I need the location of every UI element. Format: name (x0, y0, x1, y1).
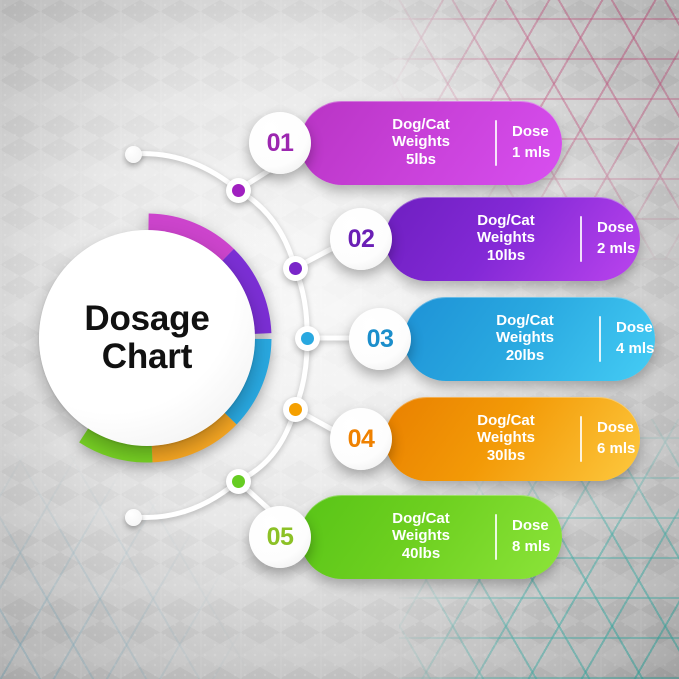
dose-column-01: Dose 1 mls (512, 123, 584, 162)
dosage-pill-02[interactable]: Dog/Cat Weights 10lbs Dose 2 mls (385, 197, 640, 281)
hub-disc: Dosage Chart (39, 230, 255, 446)
step-badge-02[interactable]: 02 (330, 208, 392, 270)
step-number-04: 04 (348, 425, 375, 454)
dosage-row-04[interactable]: Dog/Cat Weights 30lbs Dose 6 mls (385, 397, 640, 481)
dosage-row-01[interactable]: Dog/Cat Weights 5lbs Dose 1 mls (300, 101, 562, 185)
dosage-row-02[interactable]: Dog/Cat Weights 10lbs Dose 2 mls (385, 197, 640, 281)
dosage-pill-01[interactable]: Dog/Cat Weights 5lbs Dose 1 mls (300, 101, 562, 185)
weight-value-05: 40lbs (362, 546, 480, 563)
dose-label-04: Dose (597, 419, 669, 437)
column-divider-02 (580, 216, 582, 262)
weights-label-05: Dog/Cat (362, 511, 480, 528)
dose-value-05: 8 mls (512, 538, 584, 556)
endpoint-dot-bottom (125, 509, 142, 526)
node-dot-01[interactable] (226, 178, 251, 203)
weight-value-01: 5lbs (362, 152, 480, 169)
step-number-01: 01 (267, 129, 294, 158)
dose-label-05: Dose (512, 517, 584, 535)
hub-title: Dosage Chart (84, 300, 209, 376)
dose-column-05: Dose 8 mls (512, 517, 584, 556)
connector-branch-05-outer (133, 481, 238, 518)
weights-label-01: Dog/Cat (362, 117, 480, 134)
column-divider-01 (495, 120, 497, 166)
dosage-pill-04[interactable]: Dog/Cat Weights 30lbs Dose 6 mls (385, 397, 640, 481)
node-dot-04[interactable] (283, 397, 308, 422)
dose-value-01: 1 mls (512, 144, 584, 162)
connector-branch-01-outer (133, 154, 238, 190)
weight-value-02: 10lbs (447, 248, 565, 265)
weights-label2-04: Weights (447, 430, 565, 447)
column-divider-04 (580, 416, 582, 462)
weights-column-03: Dog/Cat Weights 20lbs (466, 313, 584, 365)
weights-column-04: Dog/Cat Weights 30lbs (447, 413, 565, 465)
step-badge-05[interactable]: 05 (249, 506, 311, 568)
step-badge-01[interactable]: 01 (249, 112, 311, 174)
step-number-02: 02 (348, 225, 375, 254)
weights-label2-05: Weights (362, 528, 480, 545)
weights-column-02: Dog/Cat Weights 10lbs (447, 213, 565, 265)
step-number-05: 05 (267, 523, 294, 552)
dose-value-02: 2 mls (597, 240, 669, 258)
weight-value-03: 20lbs (466, 348, 584, 365)
dosage-pill-03[interactable]: Dog/Cat Weights 20lbs Dose 4 mls (404, 297, 655, 381)
weight-value-04: 30lbs (447, 448, 565, 465)
dosage-row-05[interactable]: Dog/Cat Weights 40lbs Dose 8 mls (300, 495, 562, 579)
node-dot-02[interactable] (283, 256, 308, 281)
weights-label-02: Dog/Cat (447, 213, 565, 230)
dose-column-04: Dose 6 mls (597, 419, 669, 458)
weights-label-04: Dog/Cat (447, 413, 565, 430)
dose-label-03: Dose (616, 319, 679, 337)
weights-column-01: Dog/Cat Weights 5lbs (362, 117, 480, 169)
column-divider-05 (495, 514, 497, 560)
dosage-pill-05[interactable]: Dog/Cat Weights 40lbs Dose 8 mls (300, 495, 562, 579)
hub-dosage-chart: Dosage Chart (22, 213, 272, 463)
weights-label2-02: Weights (447, 230, 565, 247)
endpoint-dot-top (125, 146, 142, 163)
dose-label-01: Dose (512, 123, 584, 141)
dose-value-03: 4 mls (616, 340, 679, 358)
weights-label2-03: Weights (466, 330, 584, 347)
weights-label2-01: Weights (362, 134, 480, 151)
dosage-row-03[interactable]: Dog/Cat Weights 20lbs Dose 4 mls (404, 297, 655, 381)
dose-column-02: Dose 2 mls (597, 219, 669, 258)
dose-column-03: Dose 4 mls (616, 319, 679, 358)
step-badge-04[interactable]: 04 (330, 408, 392, 470)
dose-value-04: 6 mls (597, 440, 669, 458)
node-dot-05[interactable] (226, 469, 251, 494)
weights-label-03: Dog/Cat (466, 313, 584, 330)
dose-label-02: Dose (597, 219, 669, 237)
step-badge-03[interactable]: 03 (349, 308, 411, 370)
column-divider-03 (599, 316, 601, 362)
infographic-canvas: Dosage Chart Dog/Cat Weights 5lbs Dose 1… (0, 0, 679, 679)
weights-column-05: Dog/Cat Weights 40lbs (362, 511, 480, 563)
step-number-03: 03 (367, 325, 394, 354)
node-dot-03[interactable] (295, 326, 320, 351)
